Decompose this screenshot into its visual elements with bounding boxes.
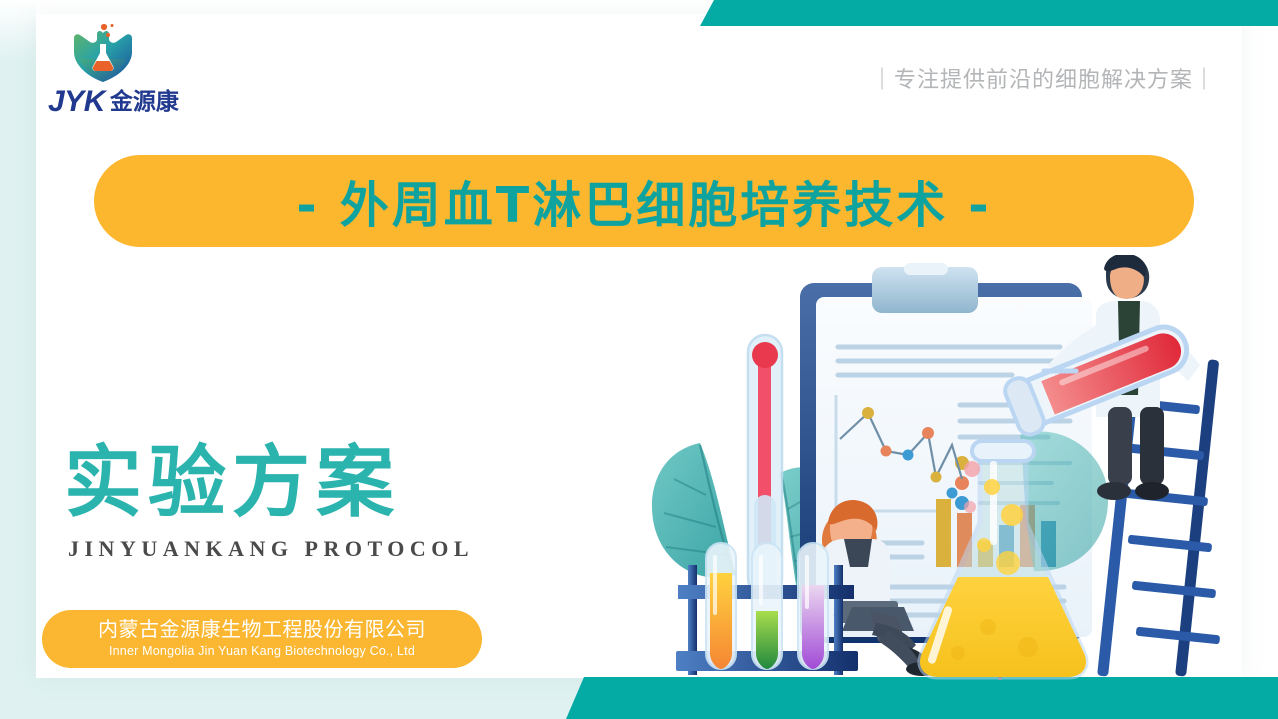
decor-band-bottom-teal	[566, 677, 1278, 719]
headline-cn: 实验方案	[64, 444, 400, 522]
company-name-cn: 内蒙古金源康生物工程股份有限公司	[98, 618, 426, 641]
header-tagline: ｜专注提供前沿的细胞解决方案｜	[871, 62, 1216, 94]
slide-canvas: JYK 金源康 ｜专注提供前沿的细胞解决方案｜ - 外周血T淋巴细胞培养技术 -…	[0, 0, 1278, 719]
flask-hexagon-logo-icon	[66, 22, 140, 84]
brand-wordmark-cn: 金源康	[110, 91, 179, 114]
brand-logo: JYK 金源康	[48, 22, 278, 122]
title-pill: - 外周血T淋巴细胞培养技术 -	[94, 155, 1194, 247]
company-pill: 内蒙古金源康生物工程股份有限公司 Inner Mongolia Jin Yuan…	[42, 610, 482, 668]
company-name-en: Inner Mongolia Jin Yuan Kang Biotechnolo…	[109, 643, 415, 659]
headline-en: JINYUANKANG PROTOCOL	[68, 536, 474, 562]
brand-wordmark-latin: JYK	[48, 87, 105, 117]
brand-wordmark: JYK 金源康	[48, 84, 228, 120]
page-title: - 外周血T淋巴细胞培养技术 -	[296, 166, 991, 237]
laboratory-research-illustration	[640, 255, 1240, 680]
decor-band-top-teal	[700, 0, 1278, 26]
decor-band-left-mint	[0, 0, 36, 719]
